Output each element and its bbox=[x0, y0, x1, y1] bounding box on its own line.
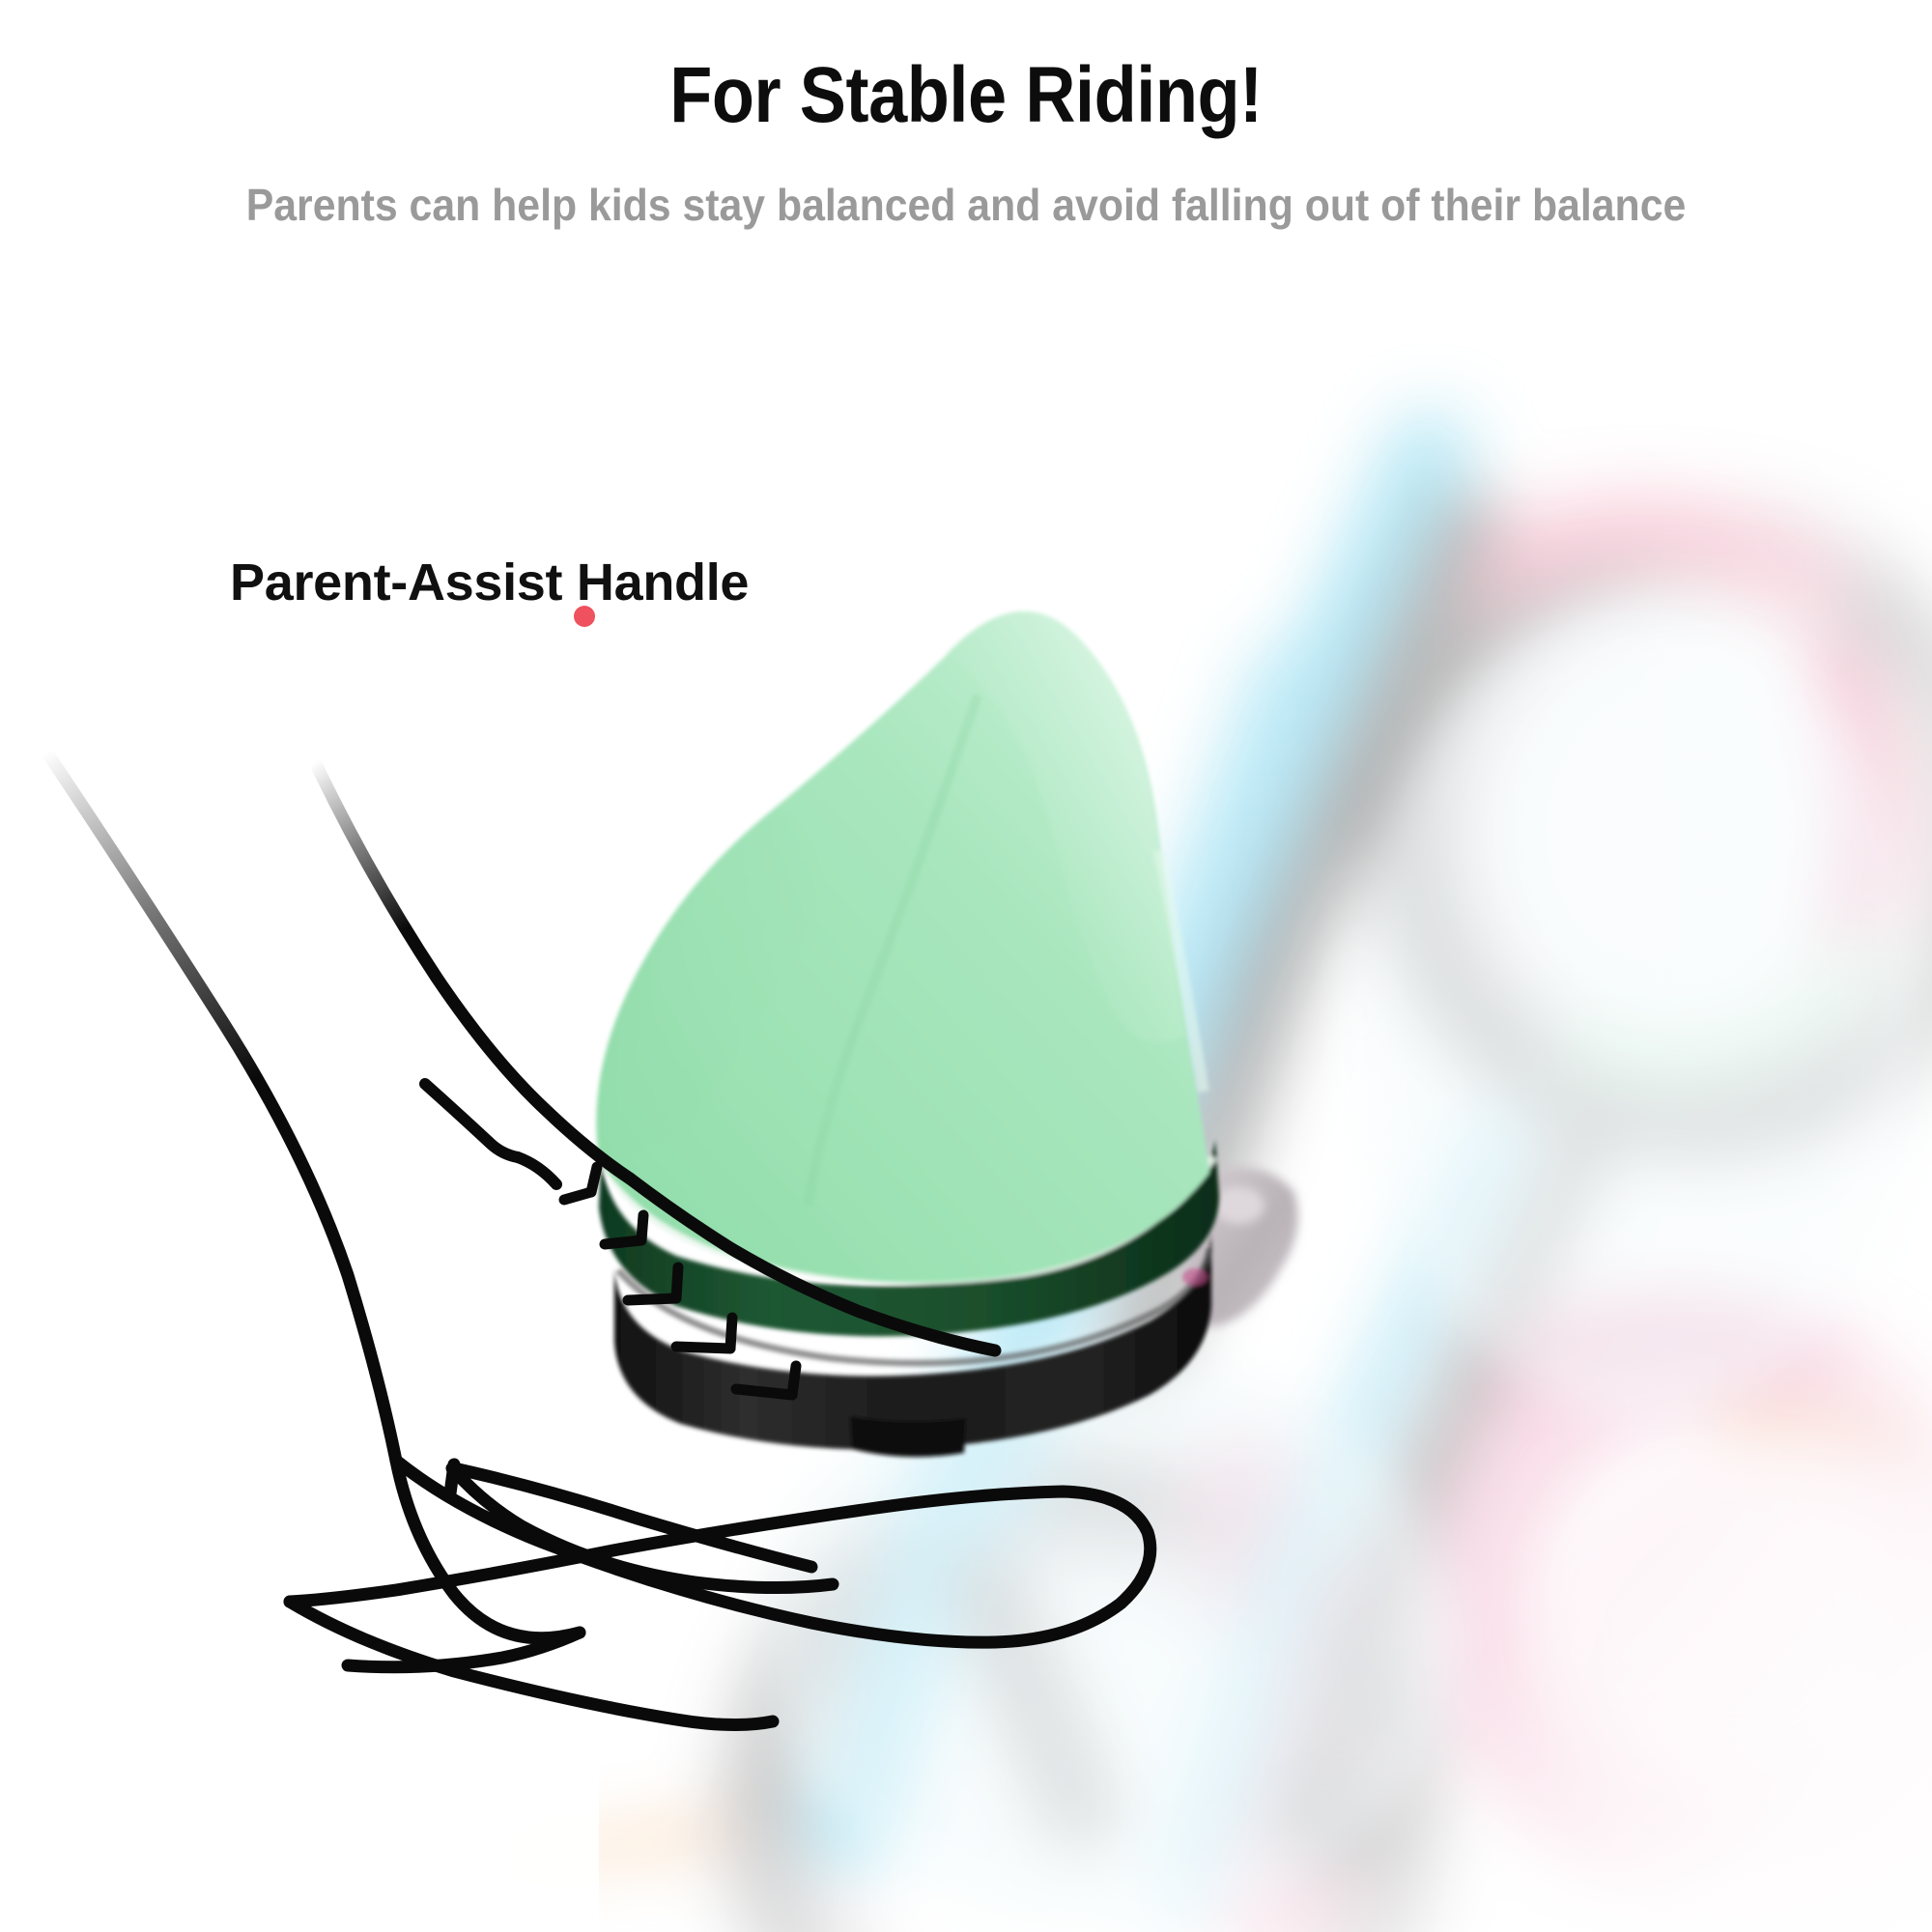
page-title: For Stable Riding! bbox=[116, 50, 1816, 141]
product-feature-banner: For Stable Riding! Parents can help kids… bbox=[0, 0, 1932, 1932]
page-subtitle: Parents can help kids stay balanced and … bbox=[68, 179, 1864, 231]
text-layer: For Stable Riding! Parents can help kids… bbox=[0, 0, 1932, 1932]
feature-callout-label: Parent-Assist Handle bbox=[230, 553, 749, 612]
